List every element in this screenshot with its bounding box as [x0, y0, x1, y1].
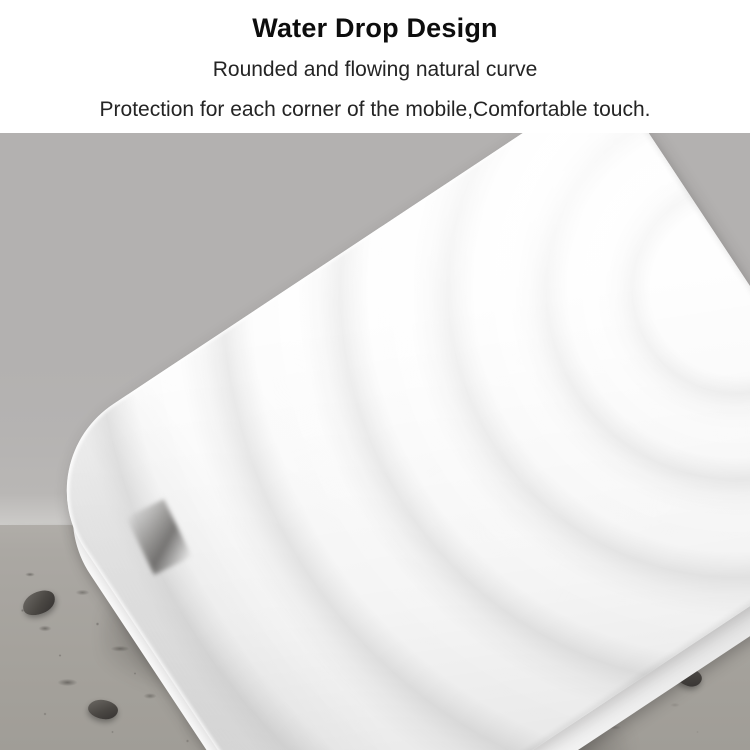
page-title: Water Drop Design [0, 13, 750, 44]
product-feature-image: Water Drop Design Rounded and flowing na… [0, 0, 750, 750]
subtitle-line-2: Protection for each corner of the mobile… [0, 98, 750, 122]
subtitle-line-1: Rounded and flowing natural curve [0, 58, 750, 82]
impact-dust-plume [175, 733, 575, 750]
phone-case-body [27, 133, 750, 750]
case-rim-highlight [27, 133, 750, 750]
phone-case-assembly [0, 133, 750, 750]
product-photo [0, 133, 750, 750]
header-text-band: Water Drop Design Rounded and flowing na… [0, 0, 750, 133]
